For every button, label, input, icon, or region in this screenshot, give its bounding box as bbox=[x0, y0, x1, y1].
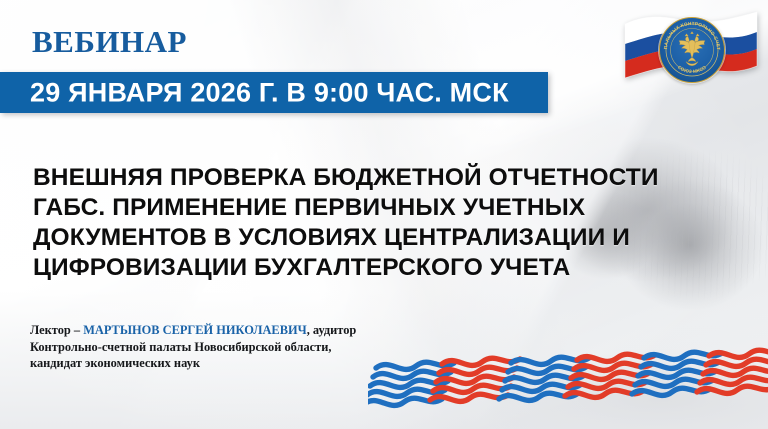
title-line-3: ДОКУМЕНТОВ В УСЛОВИЯХ ЦЕНТРАЛИЗАЦИИ И bbox=[33, 223, 673, 253]
wave-ribbon-svg bbox=[368, 330, 768, 429]
webinar-banner: ВЕБИНАР 29 ЯНВАРЯ 2026 Г. В 9:00 ЧАС. МС… bbox=[0, 0, 768, 429]
wave-group-red-3 bbox=[697, 350, 768, 393]
seal: СОЮЗ МУНИЦИПАЛЬНЫХ КОНТРОЛЬНО-СЧЕТНЫХ ОР… bbox=[659, 17, 725, 83]
emblem: СОЮЗ МУНИЦИПАЛЬНЫХ КОНТРОЛЬНО-СЧЕТНЫХ ОР… bbox=[621, 8, 761, 90]
lecturer-name: МАРТЫНОВ СЕРГЕЙ НИКОЛАЕВИЧ bbox=[83, 323, 307, 337]
date-bar-label: 29 ЯНВАРЯ 2026 Г. В 9:00 ЧАС. МСК bbox=[30, 77, 509, 108]
title-line-2: ГАБС. ПРИМЕНЕНИЕ ПЕРВИЧНЫХ УЧЕТНЫХ bbox=[33, 193, 673, 223]
webinar-kicker: ВЕБИНАР bbox=[32, 26, 187, 57]
date-bar: 29 ЯНВАРЯ 2026 Г. В 9:00 ЧАС. МСК bbox=[0, 72, 548, 113]
lecturer-lead: Лектор – bbox=[30, 323, 83, 337]
webinar-title: ВНЕШНЯЯ ПРОВЕРКА БЮДЖЕТНОЙ ОТЧЕТНОСТИ ГА… bbox=[33, 163, 673, 283]
lecturer-credit: Лектор – МАРТЫНОВ СЕРГЕЙ НИКОЛАЕВИЧ, ауд… bbox=[30, 322, 360, 372]
title-line-1: ВНЕШНЯЯ ПРОВЕРКА БЮДЖЕТНОЙ ОТЧЕТНОСТИ bbox=[33, 163, 673, 193]
wave-ribbon-decoration bbox=[368, 330, 768, 429]
title-line-4: ЦИФРОВИЗАЦИИ БУХГАЛТЕРСКОГО УЧЕТА bbox=[33, 253, 673, 283]
double-headed-eagle-icon bbox=[672, 31, 712, 69]
